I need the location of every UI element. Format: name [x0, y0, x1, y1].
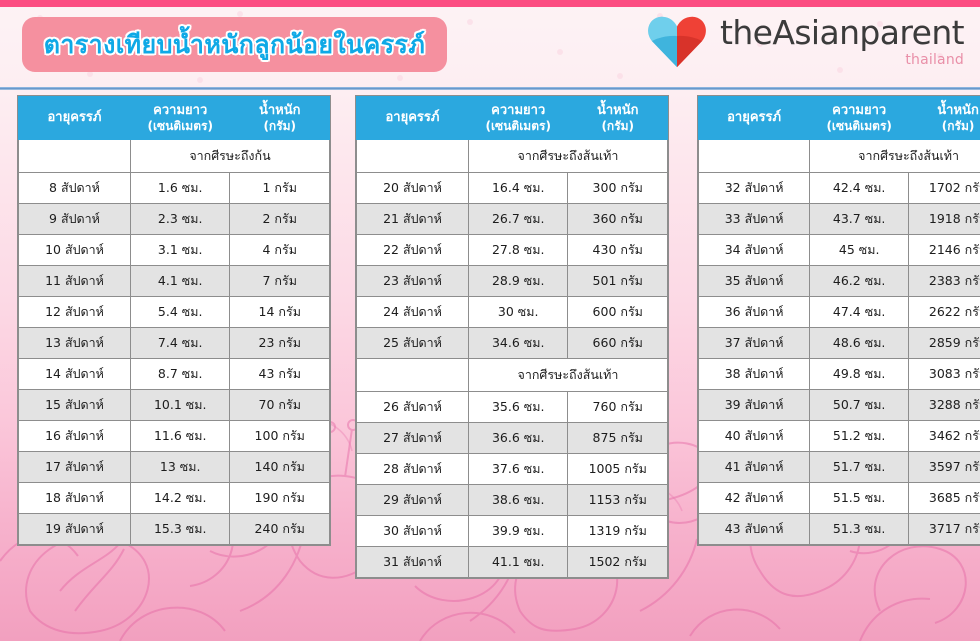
cell-weight: 430 กรัม [568, 235, 668, 266]
cell-weight: 875 กรัม [568, 423, 668, 454]
col-header-length: ความยาว(เซนติเมตร) [130, 97, 230, 140]
cell-age: 25 สัปดาห์ [357, 328, 469, 359]
cell-length: 42.4 ซม. [810, 173, 909, 204]
table-row: 36 สัปดาห์47.4 ซม.2622 กรัม [699, 297, 980, 328]
growth-table-3: อายุครรภ์ ความยาว(เซนติเมตร) น้ำหนัก(กรั… [698, 96, 980, 578]
col-header-weight: น้ำหนัก(กรัม) [230, 97, 330, 140]
cell-weight: 70 กรัม [230, 390, 330, 421]
table-row: 9 สัปดาห์2.3 ซม.2 กรัม [19, 204, 330, 235]
table-row: 21 สัปดาห์26.7 ซม.360 กรัม [357, 204, 668, 235]
tables-container: อายุครรภ์ ความยาว(เซนติเมตร) น้ำหนัก(กรั… [0, 96, 980, 578]
cell-length: 51.5 ซม. [810, 483, 909, 514]
table-row: 8 สัปดาห์1.6 ซม.1 กรัม [19, 173, 330, 204]
cell-age: 19 สัปดาห์ [19, 514, 131, 545]
table-row: 31 สัปดาห์41.1 ซม.1502 กรัม [357, 547, 668, 578]
table-row: 10 สัปดาห์3.1 ซม.4 กรัม [19, 235, 330, 266]
cell-age: 32 สัปดาห์ [699, 173, 810, 204]
table-row: 20 สัปดาห์16.4 ซม.300 กรัม [357, 173, 668, 204]
table-row: 35 สัปดาห์46.2 ซม.2383 กรัม [699, 266, 980, 297]
table-row: 26 สัปดาห์35.6 ซม.760 กรัม [357, 392, 668, 423]
cell-length: 49.8 ซม. [810, 359, 909, 390]
cell-weight: 2146 กรัม [909, 235, 980, 266]
table-row: 23 สัปดาห์28.9 ซม.501 กรัม [357, 266, 668, 297]
section-label: จากศีรษะถึงส้นเท้า [468, 140, 667, 173]
table-3-body: จากศีรษะถึงส้นเท้า 32 สัปดาห์42.4 ซม.170… [699, 140, 980, 545]
cell-age: 20 สัปดาห์ [357, 173, 469, 204]
cell-age: 40 สัปดาห์ [699, 421, 810, 452]
cell-age: 22 สัปดาห์ [357, 235, 469, 266]
cell-length: 37.6 ซม. [468, 454, 568, 485]
cell-age: 18 สัปดาห์ [19, 483, 131, 514]
cell-age: 21 สัปดาห์ [357, 204, 469, 235]
cell-length: 26.7 ซม. [468, 204, 568, 235]
cell-weight: 2859 กรัม [909, 328, 980, 359]
cell-weight: 2383 กรัม [909, 266, 980, 297]
table-header-row: อายุครรภ์ ความยาว(เซนติเมตร) น้ำหนัก(กรั… [357, 97, 668, 140]
cell-weight: 43 กรัม [230, 359, 330, 390]
cell-weight: 1 กรัม [230, 173, 330, 204]
cell-age: 17 สัปดาห์ [19, 452, 131, 483]
table-1: อายุครรภ์ ความยาว(เซนติเมตร) น้ำหนัก(กรั… [18, 96, 330, 545]
cell-age: 42 สัปดาห์ [699, 483, 810, 514]
table-row: 42 สัปดาห์51.5 ซม.3685 กรัม [699, 483, 980, 514]
growth-table-1: อายุครรภ์ ความยาว(เซนติเมตร) น้ำหนัก(กรั… [18, 96, 330, 578]
cell-weight: 501 กรัม [568, 266, 668, 297]
cell-age: 10 สัปดาห์ [19, 235, 131, 266]
cell-age: 9 สัปดาห์ [19, 204, 131, 235]
growth-table-2: อายุครรภ์ ความยาว(เซนติเมตร) น้ำหนัก(กรั… [356, 96, 668, 578]
cell-length: 51.3 ซม. [810, 514, 909, 545]
cell-age: 12 สัปดาห์ [19, 297, 131, 328]
col-header-age: อายุครรภ์ [699, 97, 810, 140]
cell-age: 39 สัปดาห์ [699, 390, 810, 421]
brand-logo: theAsianparent thailand [646, 12, 964, 70]
cell-age: 29 สัปดาห์ [357, 485, 469, 516]
top-accent-bar [0, 0, 980, 7]
cell-age: 38 สัปดาห์ [699, 359, 810, 390]
table-row: 19 สัปดาห์15.3 ซม.240 กรัม [19, 514, 330, 545]
cell-length: 35.6 ซม. [468, 392, 568, 423]
cell-weight: 660 กรัม [568, 328, 668, 359]
cell-length: 50.7 ซม. [810, 390, 909, 421]
cell-weight: 1502 กรัม [568, 547, 668, 578]
cell-length: 28.9 ซม. [468, 266, 568, 297]
cell-age: 16 สัปดาห์ [19, 421, 131, 452]
cell-weight: 140 กรัม [230, 452, 330, 483]
cell-age: 8 สัปดาห์ [19, 173, 131, 204]
cell-weight: 4 กรัม [230, 235, 330, 266]
cell-weight: 1918 กรัม [909, 204, 980, 235]
cell-length: 13 ซม. [130, 452, 230, 483]
cell-weight: 1702 กรัม [909, 173, 980, 204]
table-row: 17 สัปดาห์13 ซม.140 กรัม [19, 452, 330, 483]
cell-age: 43 สัปดาห์ [699, 514, 810, 545]
cell-length: 51.7 ซม. [810, 452, 909, 483]
table-row: 38 สัปดาห์49.8 ซม.3083 กรัม [699, 359, 980, 390]
table-row: 32 สัปดาห์42.4 ซม.1702 กรัม [699, 173, 980, 204]
table-1-body: จากศีรษะถึงก้น 8 สัปดาห์1.6 ซม.1 กรัม 9 … [19, 140, 330, 545]
table-row: 14 สัปดาห์8.7 ซม.43 กรัม [19, 359, 330, 390]
col-header-length: ความยาว(เซนติเมตร) [468, 97, 568, 140]
cell-length: 3.1 ซม. [130, 235, 230, 266]
cell-age: 36 สัปดาห์ [699, 297, 810, 328]
cell-weight: 3717 กรัม [909, 514, 980, 545]
col-header-weight: น้ำหนัก(กรัม) [909, 97, 980, 140]
cell-age: 37 สัปดาห์ [699, 328, 810, 359]
section-label: จากศีรษะถึงก้น [130, 140, 329, 173]
cell-length: 38.6 ซม. [468, 485, 568, 516]
cell-age: 34 สัปดาห์ [699, 235, 810, 266]
cell-weight: 1153 กรัม [568, 485, 668, 516]
section-label-row: จากศีรษะถึงก้น [19, 140, 330, 173]
cell-weight: 14 กรัม [230, 297, 330, 328]
cell-length: 47.4 ซม. [810, 297, 909, 328]
cell-length: 45 ซม. [810, 235, 909, 266]
split-heart-icon [646, 12, 708, 70]
cell-length: 8.7 ซม. [130, 359, 230, 390]
table-2: อายุครรภ์ ความยาว(เซนติเมตร) น้ำหนัก(กรั… [356, 96, 668, 578]
table-row: 22 สัปดาห์27.8 ซม.430 กรัม [357, 235, 668, 266]
cell-length: 27.8 ซม. [468, 235, 568, 266]
cell-length: 46.2 ซม. [810, 266, 909, 297]
col-header-length: ความยาว(เซนติเมตร) [810, 97, 909, 140]
table-row: 33 สัปดาห์43.7 ซม.1918 กรัม [699, 204, 980, 235]
table-row: 34 สัปดาห์45 ซม.2146 กรัม [699, 235, 980, 266]
cell-age: 31 สัปดาห์ [357, 547, 469, 578]
section-label-row: จากศีรษะถึงส้นเท้า [357, 140, 668, 173]
cell-age: 24 สัปดาห์ [357, 297, 469, 328]
table-row: 11 สัปดาห์4.1 ซม.7 กรัม [19, 266, 330, 297]
cell-length: 15.3 ซม. [130, 514, 230, 545]
cell-weight: 190 กรัม [230, 483, 330, 514]
table-3: อายุครรภ์ ความยาว(เซนติเมตร) น้ำหนัก(กรั… [698, 96, 980, 545]
cell-length: 4.1 ซม. [130, 266, 230, 297]
cell-age: 35 สัปดาห์ [699, 266, 810, 297]
table-row: 28 สัปดาห์37.6 ซม.1005 กรัม [357, 454, 668, 485]
cell-length: 34.6 ซม. [468, 328, 568, 359]
cell-length: 2.3 ซม. [130, 204, 230, 235]
section-label: จากศีรษะถึงส้นเท้า [468, 359, 667, 392]
infographic-page: ตารางเทียบน้ำหนักลูกน้อยในครรภ์ theAsian… [0, 0, 980, 641]
cell-age: 27 สัปดาห์ [357, 423, 469, 454]
cell-length: 41.1 ซม. [468, 547, 568, 578]
section-label-row: จากศีรษะถึงส้นเท้า [699, 140, 980, 173]
table-row: 37 สัปดาห์48.6 ซม.2859 กรัม [699, 328, 980, 359]
cell-length: 11.6 ซม. [130, 421, 230, 452]
section-label: จากศีรษะถึงส้นเท้า [810, 140, 980, 173]
cell-age: 23 สัปดาห์ [357, 266, 469, 297]
table-2-body: จากศีรษะถึงส้นเท้า 20 สัปดาห์16.4 ซม.300… [357, 140, 668, 578]
cell-weight: 1005 กรัม [568, 454, 668, 485]
brand-subtitle: thailand [905, 53, 964, 67]
brand-text: theAsianparent thailand [720, 16, 964, 67]
cell-weight: 240 กรัม [230, 514, 330, 545]
cell-age: 30 สัปดาห์ [357, 516, 469, 547]
cell-length: 1.6 ซม. [130, 173, 230, 204]
cell-weight: 2622 กรัม [909, 297, 980, 328]
cell-weight: 3083 กรัม [909, 359, 980, 390]
cell-length: 39.9 ซม. [468, 516, 568, 547]
table-row: 40 สัปดาห์51.2 ซม.3462 กรัม [699, 421, 980, 452]
cell-age: 28 สัปดาห์ [357, 454, 469, 485]
table-row: 43 สัปดาห์51.3 ซม.3717 กรัม [699, 514, 980, 545]
table-row: 15 สัปดาห์10.1 ซม.70 กรัม [19, 390, 330, 421]
cell-age: 26 สัปดาห์ [357, 392, 469, 423]
cell-weight: 600 กรัม [568, 297, 668, 328]
cell-weight: 100 กรัม [230, 421, 330, 452]
cell-age: 41 สัปดาห์ [699, 452, 810, 483]
table-header-row: อายุครรภ์ ความยาว(เซนติเมตร) น้ำหนัก(กรั… [699, 97, 980, 140]
section-label-row: จากศีรษะถึงส้นเท้า [357, 359, 668, 392]
cell-weight: 3288 กรัม [909, 390, 980, 421]
table-row: 30 สัปดาห์39.9 ซม.1319 กรัม [357, 516, 668, 547]
cell-length: 14.2 ซม. [130, 483, 230, 514]
col-header-age: อายุครรภ์ [19, 97, 131, 140]
cell-age: 11 สัปดาห์ [19, 266, 131, 297]
cell-length: 5.4 ซม. [130, 297, 230, 328]
col-header-weight: น้ำหนัก(กรัม) [568, 97, 668, 140]
cell-age: 15 สัปดาห์ [19, 390, 131, 421]
cell-length: 7.4 ซม. [130, 328, 230, 359]
cell-weight: 3685 กรัม [909, 483, 980, 514]
table-row: 24 สัปดาห์30 ซม.600 กรัม [357, 297, 668, 328]
cell-weight: 300 กรัม [568, 173, 668, 204]
table-header-row: อายุครรภ์ ความยาว(เซนติเมตร) น้ำหนัก(กรั… [19, 97, 330, 140]
cell-weight: 360 กรัม [568, 204, 668, 235]
cell-weight: 2 กรัม [230, 204, 330, 235]
table-row: 12 สัปดาห์5.4 ซม.14 กรัม [19, 297, 330, 328]
col-header-age: อายุครรภ์ [357, 97, 469, 140]
cell-length: 16.4 ซม. [468, 173, 568, 204]
cell-length: 51.2 ซม. [810, 421, 909, 452]
table-row: 18 สัปดาห์14.2 ซม.190 กรัม [19, 483, 330, 514]
table-row: 29 สัปดาห์38.6 ซม.1153 กรัม [357, 485, 668, 516]
cell-weight: 760 กรัม [568, 392, 668, 423]
table-row: 13 สัปดาห์7.4 ซม.23 กรัม [19, 328, 330, 359]
cell-age: 33 สัปดาห์ [699, 204, 810, 235]
cell-age: 14 สัปดาห์ [19, 359, 131, 390]
cell-length: 36.6 ซม. [468, 423, 568, 454]
blue-divider-line [0, 87, 980, 90]
cell-weight: 3462 กรัม [909, 421, 980, 452]
table-row: 27 สัปดาห์36.6 ซม.875 กรัม [357, 423, 668, 454]
cell-length: 48.6 ซม. [810, 328, 909, 359]
cell-weight: 7 กรัม [230, 266, 330, 297]
table-row: 39 สัปดาห์50.7 ซม.3288 กรัม [699, 390, 980, 421]
cell-length: 10.1 ซม. [130, 390, 230, 421]
cell-weight: 3597 กรัม [909, 452, 980, 483]
cell-weight: 23 กรัม [230, 328, 330, 359]
cell-length: 30 ซม. [468, 297, 568, 328]
cell-length: 43.7 ซม. [810, 204, 909, 235]
table-row: 16 สัปดาห์11.6 ซม.100 กรัม [19, 421, 330, 452]
cell-age: 13 สัปดาห์ [19, 328, 131, 359]
page-title: ตารางเทียบน้ำหนักลูกน้อยในครรภ์ [44, 25, 426, 65]
table-row: 25 สัปดาห์34.6 ซม.660 กรัม [357, 328, 668, 359]
brand-name: theAsianparent [720, 16, 964, 49]
table-row: 41 สัปดาห์51.7 ซม.3597 กรัม [699, 452, 980, 483]
cell-weight: 1319 กรัม [568, 516, 668, 547]
page-title-box: ตารางเทียบน้ำหนักลูกน้อยในครรภ์ [22, 17, 447, 72]
